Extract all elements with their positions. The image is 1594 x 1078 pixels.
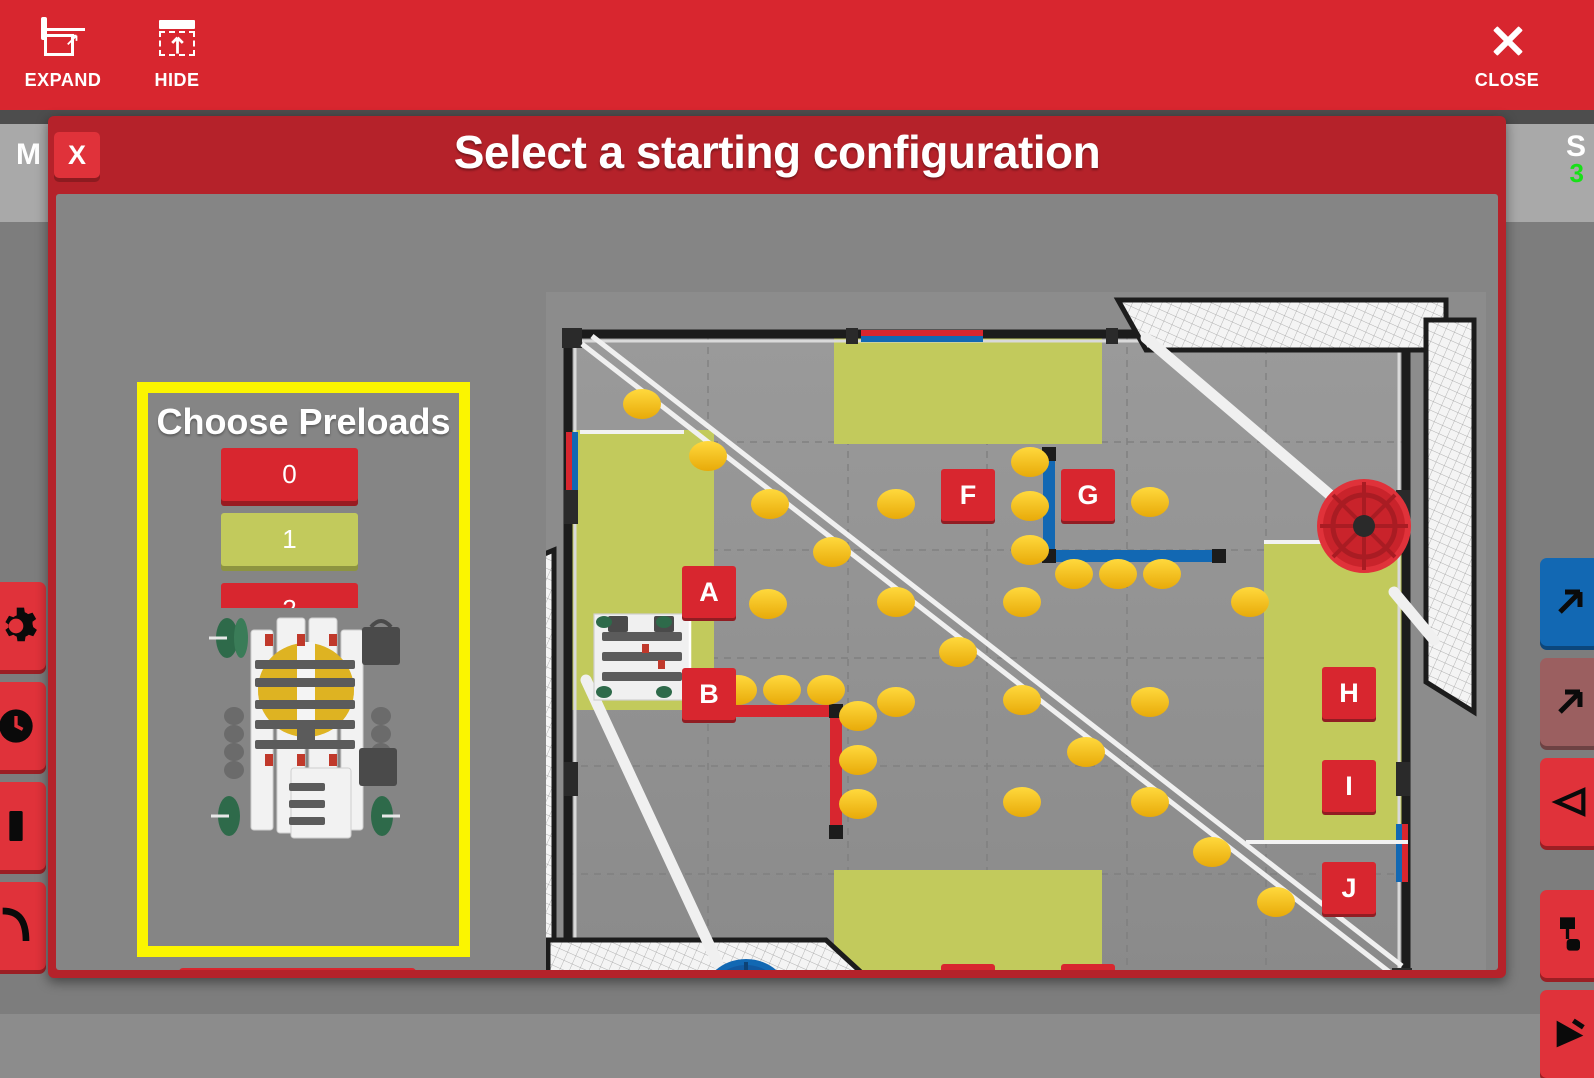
position-marker-i[interactable]: I xyxy=(1322,760,1376,812)
sidebar-button-rectangle[interactable] xyxy=(0,782,46,870)
sidebar-button-gear[interactable] xyxy=(0,582,46,670)
background-green-value: 3 xyxy=(1570,158,1584,189)
position-marker-d[interactable]: D xyxy=(941,964,995,970)
play-outline-icon xyxy=(1550,782,1590,822)
hide-button-label: HIDE xyxy=(154,70,199,91)
arrow-nw-icon xyxy=(1550,682,1590,722)
position-marker-f[interactable]: F xyxy=(941,469,995,521)
close-button-label: CLOSE xyxy=(1475,70,1540,91)
choose-preloads-panel: Choose Preloads 0 1 2 xyxy=(137,382,470,957)
position-marker-a[interactable]: A xyxy=(682,566,736,618)
cursor-play-icon xyxy=(1550,1014,1590,1054)
position-marker-b[interactable]: B xyxy=(682,668,736,720)
top-toolbar: EXPAND HIDE CLOSE xyxy=(0,0,1594,110)
preload-option-1[interactable]: 1 xyxy=(221,513,358,566)
sidebar-button-play-outline[interactable] xyxy=(1540,758,1594,846)
gear-icon xyxy=(0,604,38,648)
sidebar-button-arrow-nw-blue[interactable] xyxy=(1540,558,1594,646)
position-marker-g[interactable]: G xyxy=(1061,469,1115,521)
starting-configuration-dialog: X Select a starting configuration Choose… xyxy=(48,116,1506,978)
expand-button-label: EXPAND xyxy=(25,70,102,91)
node-link-icon xyxy=(1550,914,1590,954)
clock-icon xyxy=(0,706,36,746)
rectangle-icon xyxy=(0,806,36,846)
expand-window-icon xyxy=(41,20,85,60)
sidebar-button-curve[interactable] xyxy=(0,882,46,970)
curve-icon xyxy=(0,906,36,946)
position-marker-e[interactable]: E xyxy=(1061,964,1115,970)
sidebar-button-cursor-play[interactable] xyxy=(1540,990,1594,1078)
arrow-nw-icon xyxy=(1550,582,1590,622)
expand-button[interactable]: EXPAND xyxy=(14,0,112,110)
sidebar-button-clock[interactable] xyxy=(0,682,46,770)
close-x-icon xyxy=(1487,20,1527,60)
confirm-button[interactable]: Confirm xyxy=(179,968,416,970)
field-diagram[interactable]: A B D E F G H I J xyxy=(546,292,1486,970)
position-marker-h[interactable]: H xyxy=(1322,667,1376,719)
hide-button[interactable]: HIDE xyxy=(132,0,222,110)
position-marker-j[interactable]: J xyxy=(1322,862,1376,914)
field-robot xyxy=(594,614,690,700)
close-button[interactable]: CLOSE xyxy=(1452,0,1562,110)
sidebar-button-node-link[interactable] xyxy=(1540,890,1594,978)
hide-upload-icon xyxy=(157,20,197,60)
preload-option-0[interactable]: 0 xyxy=(221,448,358,501)
robot-top-view xyxy=(193,608,418,853)
choose-preloads-heading: Choose Preloads xyxy=(148,401,459,443)
dialog-body: Choose Preloads 0 1 2 xyxy=(56,194,1498,970)
background-tab-label-left: M xyxy=(16,138,41,172)
dialog-title: Select a starting configuration xyxy=(48,116,1506,188)
red-goal xyxy=(1320,482,1408,570)
sidebar-button-arrow-nw-muted[interactable] xyxy=(1540,658,1594,746)
